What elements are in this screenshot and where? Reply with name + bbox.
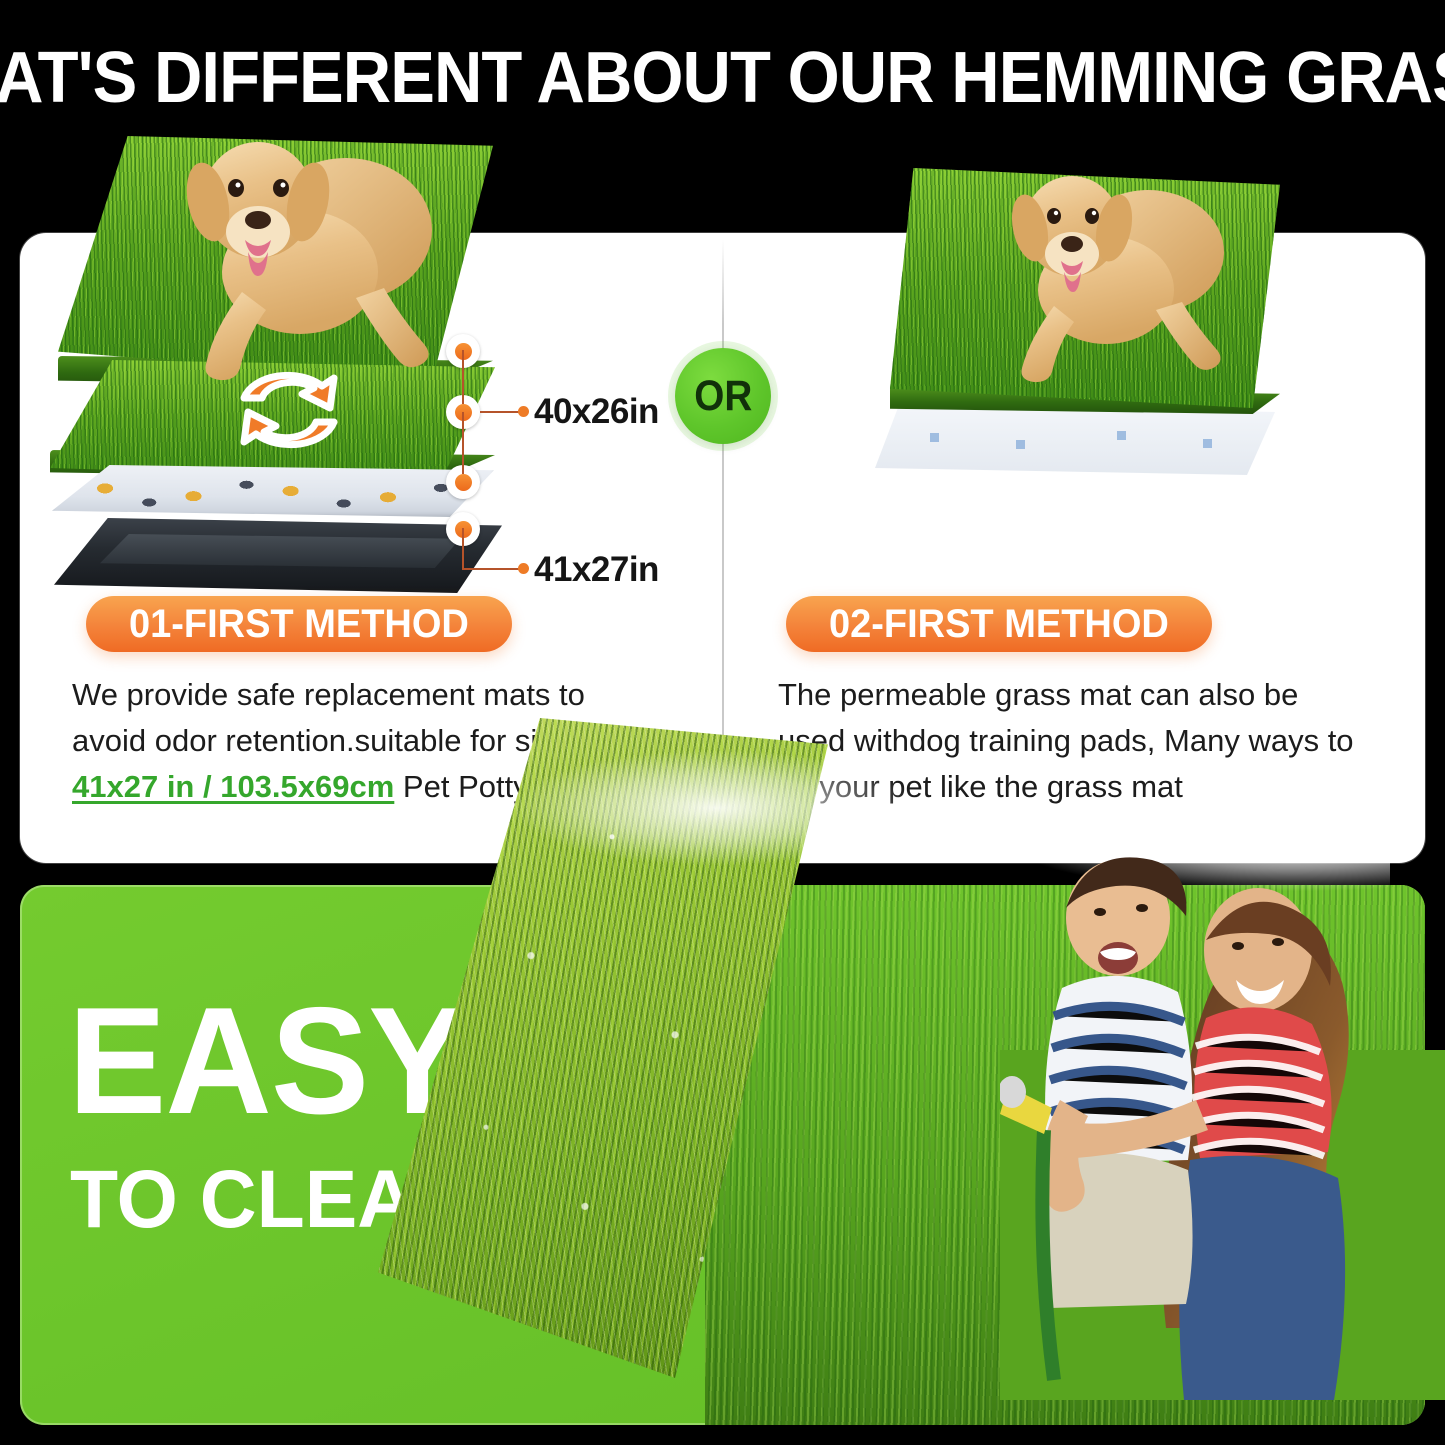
or-badge-label: OR (694, 372, 752, 421)
banner-title: EASY (68, 986, 466, 1136)
callout-label-tray-size: 41x27in (534, 550, 659, 590)
patterned-pee-pad (52, 465, 494, 517)
callout-line (480, 411, 522, 413)
training-pad-pattern (875, 405, 1275, 475)
method-badge-01: 01-FIRST METHOD (86, 596, 512, 652)
or-badge: OR (675, 348, 771, 444)
method-01-size-highlight: 41x27 in / 103.5x69cm (72, 769, 394, 804)
method-badge-02-label: 02-FIRST METHOD (829, 602, 1169, 647)
method-02-description: The permeable grass mat can also be used… (778, 672, 1358, 810)
callout-line-end-icon (518, 406, 529, 417)
golden-retriever-dog-right (980, 160, 1230, 395)
callout-line (462, 568, 522, 570)
callout-label-grass-mat-size: 40x26in (534, 392, 659, 432)
callout-line (462, 412, 464, 474)
callout-line-end-icon (518, 563, 529, 574)
method-badge-01-label: 01-FIRST METHOD (129, 602, 469, 647)
golden-retriever-dog-left (150, 122, 440, 392)
method-badge-02: 02-FIRST METHOD (786, 596, 1212, 652)
page-title: WHAT'S DIFFERENT ABOUT OUR HEMMING GRASS… (51, 34, 1395, 122)
method-01-text-after: Pet Potty (394, 769, 528, 804)
method-01-text-before: We provide safe replacement mats to avoi… (72, 677, 585, 758)
swap-arrows-icon (224, 358, 354, 463)
callout-line (462, 528, 464, 570)
callout-line (462, 350, 464, 404)
tray-inner-well (100, 534, 460, 568)
pee-pad-pattern (52, 465, 494, 517)
dog-training-pad (875, 405, 1275, 475)
method-02-text: The permeable grass mat can also be used… (778, 677, 1354, 804)
mother-and-child-photo (1000, 800, 1445, 1400)
